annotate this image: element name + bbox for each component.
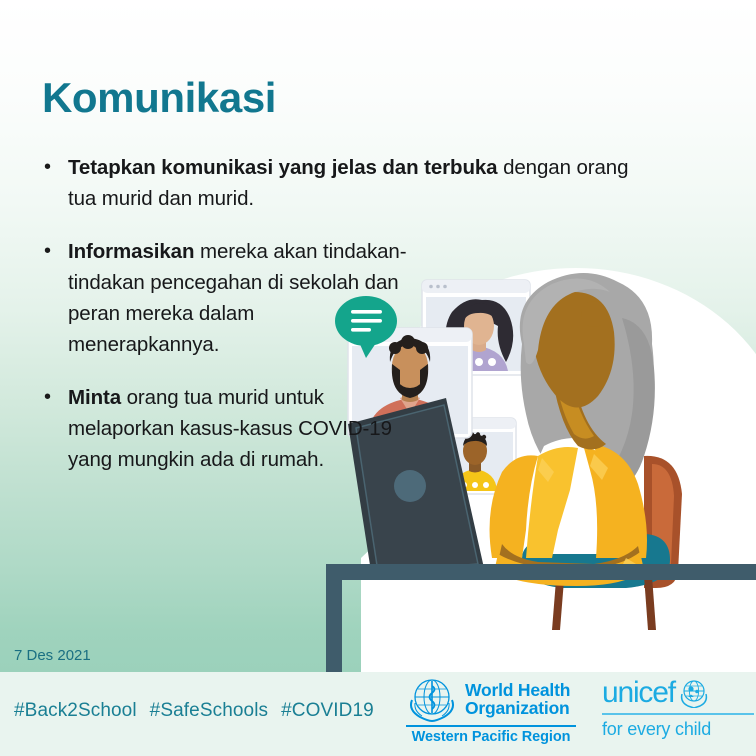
- page-title: Komunikasi: [42, 76, 276, 120]
- bullet-marker: •: [38, 382, 68, 475]
- who-emblem-icon: [406, 676, 458, 722]
- date-label: 7 Des 2021: [14, 647, 91, 664]
- hashtag-row: #Back2School#SafeSchools#COVID19: [14, 700, 387, 722]
- bullet-text: Tetapkan komunikasi yang jelas dan terbu…: [68, 152, 638, 214]
- logo-row: World Health Organization Western Pacifi…: [406, 676, 754, 745]
- unicef-logo: unicef for every child: [602, 676, 754, 739]
- hashtag-back2school[interactable]: #Back2School: [14, 700, 137, 721]
- hashtag-safeschools[interactable]: #SafeSchools: [150, 700, 268, 721]
- bullet-marker: •: [38, 236, 68, 360]
- who-divider: [406, 725, 576, 727]
- bullet-bold-text: Informasikan: [68, 240, 194, 263]
- who-region-label: Western Pacific Region: [406, 729, 576, 745]
- hashtag-covid19[interactable]: #COVID19: [281, 700, 374, 721]
- unicef-emblem-icon: [679, 678, 709, 708]
- bullet-bold-text: Tetapkan komunikasi yang jelas dan terbu…: [68, 156, 497, 179]
- unicef-tagline: for every child: [602, 719, 754, 739]
- bullet-marker: •: [38, 152, 68, 214]
- list-item: • Informasikan mereka akan tindakan-tind…: [38, 236, 408, 360]
- who-line1: World Health: [465, 681, 570, 700]
- bullet-bold-text: Minta: [68, 386, 121, 409]
- bullet-list: • Tetapkan komunikasi yang jelas dan ter…: [38, 152, 408, 497]
- bullet-text: Minta orang tua murid untuk melaporkan k…: [68, 382, 408, 475]
- who-line2: Organization: [465, 699, 570, 718]
- list-item: • Tetapkan komunikasi yang jelas dan ter…: [38, 152, 638, 214]
- poster-root: Komunikasi • Tetapkan komunikasi yang je…: [0, 0, 756, 756]
- list-item: • Minta orang tua murid untuk melaporkan…: [38, 382, 408, 475]
- who-logo: World Health Organization Western Pacifi…: [406, 676, 576, 745]
- bullet-text: Informasikan mereka akan tindakan-tindak…: [68, 236, 408, 360]
- unicef-wordmark: unicef: [602, 678, 675, 708]
- unicef-divider: [602, 713, 754, 715]
